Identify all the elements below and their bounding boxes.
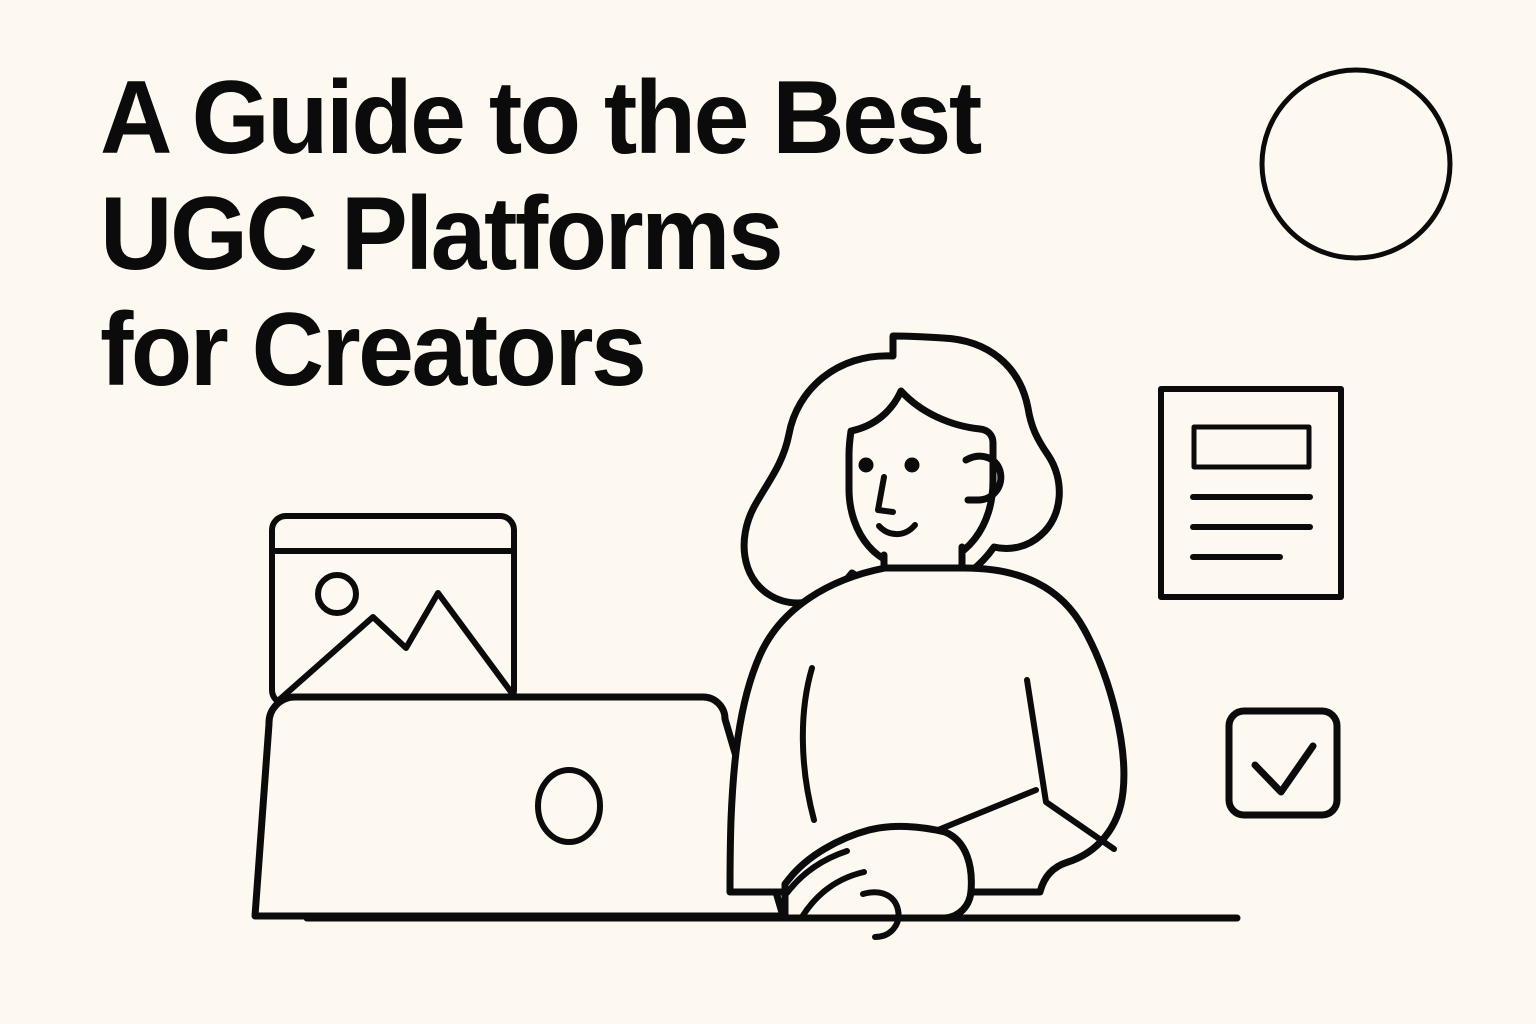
checkbox-checked-icon: [1229, 711, 1337, 815]
headline-line-2: UGC Platforms: [100, 182, 1181, 286]
document-icon: [1161, 389, 1341, 597]
eye-left: [859, 458, 874, 473]
person-illustration: [730, 336, 1124, 937]
headline-line-3: for Creators: [100, 298, 1181, 402]
poster-canvas: A Guide to the Best UGC Platforms for Cr…: [0, 0, 1536, 1024]
page-title: A Guide to the Best UGC Platforms for Cr…: [100, 66, 1220, 402]
laptop: [255, 697, 783, 916]
headline-line-1: A Guide to the Best: [100, 66, 1181, 170]
eye-right: [905, 458, 920, 473]
image-placeholder-icon: [272, 516, 514, 704]
decorative-circle-icon: [1262, 70, 1450, 258]
